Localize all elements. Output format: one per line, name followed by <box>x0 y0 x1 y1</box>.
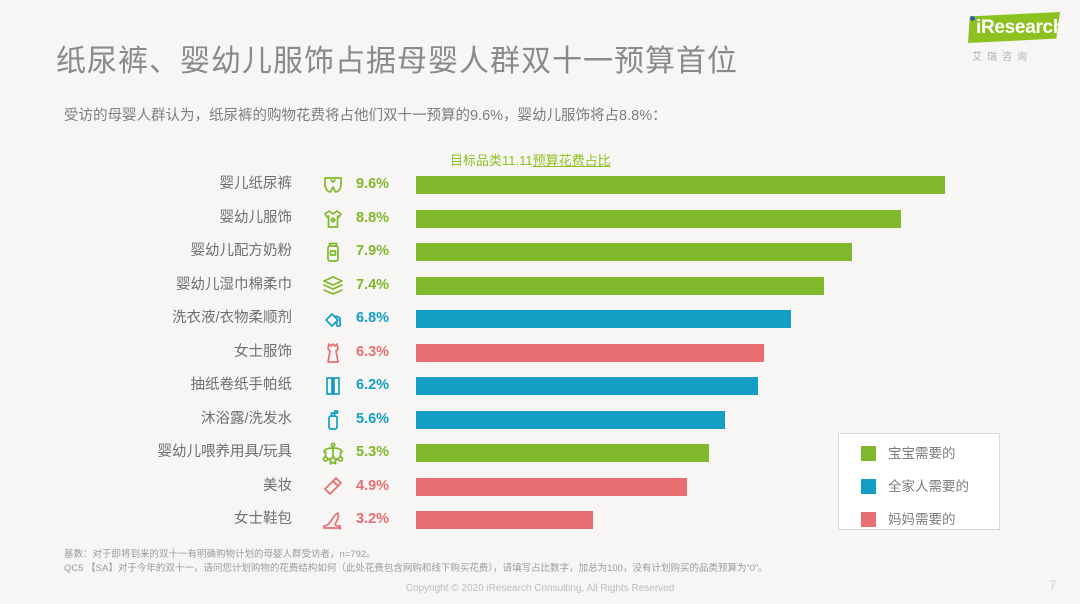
category-label: 婴幼儿服饰 <box>60 202 292 236</box>
bar <box>416 478 687 496</box>
chart-row: 女士服饰6.3% <box>0 336 1080 370</box>
legend-label: 宝宝需要的 <box>888 441 956 467</box>
chart-row: 婴幼儿配方奶粉7.9% <box>0 235 1080 269</box>
category-label: 洗衣液/衣物柔顺剂 <box>60 302 292 336</box>
value-label: 5.3% <box>356 436 408 470</box>
chart-row: 婴幼儿服饰8.8% <box>0 202 1080 236</box>
legend-label: 全家人需要的 <box>888 474 969 500</box>
bar <box>416 277 824 295</box>
bar <box>416 377 758 395</box>
bar <box>416 210 901 228</box>
logo-wordmark: iResearch <box>976 17 1064 39</box>
category-label: 婴幼儿配方奶粉 <box>60 235 292 269</box>
legend-swatch <box>861 446 876 461</box>
bar <box>416 310 791 328</box>
legend-label: 妈妈需要的 <box>888 507 956 533</box>
chart-row: 沐浴露/洗发水5.6% <box>0 403 1080 437</box>
page-subtitle: 受访的母婴人群认为，纸尿裤的购物花费将占他们双十一预算的9.6%，婴幼儿服饰将占… <box>64 104 667 125</box>
category-label: 美妆 <box>60 470 292 504</box>
high-heel-icon <box>318 507 348 533</box>
baby-mobile-icon <box>318 440 348 466</box>
value-label: 6.2% <box>356 369 408 403</box>
page-title: 纸尿裤、婴幼儿服饰占据母婴人群双十一预算首位 <box>56 36 738 80</box>
slide: iResearch 艾瑞咨询 纸尿裤、婴幼儿服饰占据母婴人群双十一预算首位 受访… <box>0 0 1080 604</box>
chart-legend: 宝宝需要的全家人需要的妈妈需要的 <box>838 433 1000 530</box>
lipstick-icon <box>318 474 348 500</box>
value-label: 7.4% <box>356 269 408 303</box>
footnote-base: 基数：对于即将到来的双十一有明确购物计划的母婴人群受访者，n=792。 <box>64 548 768 562</box>
category-label: 女士鞋包 <box>60 503 292 537</box>
copyright-text: Copyright © 2020 iResearch Consulting, A… <box>0 583 1080 594</box>
value-label: 5.6% <box>356 403 408 437</box>
value-label: 8.8% <box>356 202 408 236</box>
category-label: 抽纸卷纸手帕纸 <box>60 369 292 403</box>
legend-item: 宝宝需要的 <box>839 441 999 467</box>
logo-i-stem <box>970 23 975 38</box>
chart-title-prefix: 目标品类11.11 <box>450 153 533 168</box>
chart-title-underlined: 预算花费占比 <box>533 153 611 168</box>
logo-chinese-name: 艾瑞咨询 <box>972 48 1032 63</box>
diaper-icon <box>318 172 348 198</box>
legend-item: 全家人需要的 <box>839 474 999 500</box>
chart-row: 婴儿纸尿裤9.6% <box>0 168 1080 202</box>
bar <box>416 511 593 529</box>
logo-i-dot <box>970 16 975 21</box>
value-label: 3.2% <box>356 503 408 537</box>
logo-mark: iResearch <box>954 12 1060 46</box>
milk-powder-can-icon <box>318 239 348 265</box>
category-label: 婴幼儿喂养用具/玩具 <box>60 436 292 470</box>
legend-swatch <box>861 479 876 494</box>
bar <box>416 444 709 462</box>
dress-icon <box>318 340 348 366</box>
value-label: 7.9% <box>356 235 408 269</box>
category-label: 婴幼儿湿巾棉柔巾 <box>60 269 292 303</box>
onesie-icon <box>318 206 348 232</box>
category-label: 沐浴露/洗发水 <box>60 403 292 437</box>
category-label: 婴儿纸尿裤 <box>60 168 292 202</box>
shampoo-bottle-icon <box>318 407 348 433</box>
chart-title: 目标品类11.11预算花费占比 <box>450 150 611 169</box>
detergent-bottle-icon <box>318 306 348 332</box>
value-label: 4.9% <box>356 470 408 504</box>
bar <box>416 344 764 362</box>
bar <box>416 243 852 261</box>
value-label: 6.8% <box>356 302 408 336</box>
chart-row: 婴幼儿湿巾棉柔巾7.4% <box>0 269 1080 303</box>
category-label: 女士服饰 <box>60 336 292 370</box>
chart-row: 抽纸卷纸手帕纸6.2% <box>0 369 1080 403</box>
footnote-question: QC5 【SA】对于今年的双十一，请问您计划购物的花费结构如何（此处花费包含网购… <box>64 562 768 576</box>
value-label: 6.3% <box>356 336 408 370</box>
legend-item: 妈妈需要的 <box>839 507 999 533</box>
footnotes: 基数：对于即将到来的双十一有明确购物计划的母婴人群受访者，n=792。 QC5 … <box>64 548 768 576</box>
iresearch-logo: iResearch 艾瑞咨询 <box>954 12 1066 68</box>
value-label: 9.6% <box>356 168 408 202</box>
page-number: 7 <box>1049 578 1056 592</box>
bar <box>416 411 725 429</box>
legend-swatch <box>861 512 876 527</box>
bar <box>416 176 945 194</box>
wipes-stack-icon <box>318 273 348 299</box>
chart-row: 洗衣液/衣物柔顺剂6.8% <box>0 302 1080 336</box>
tissue-pack-icon <box>318 373 348 399</box>
